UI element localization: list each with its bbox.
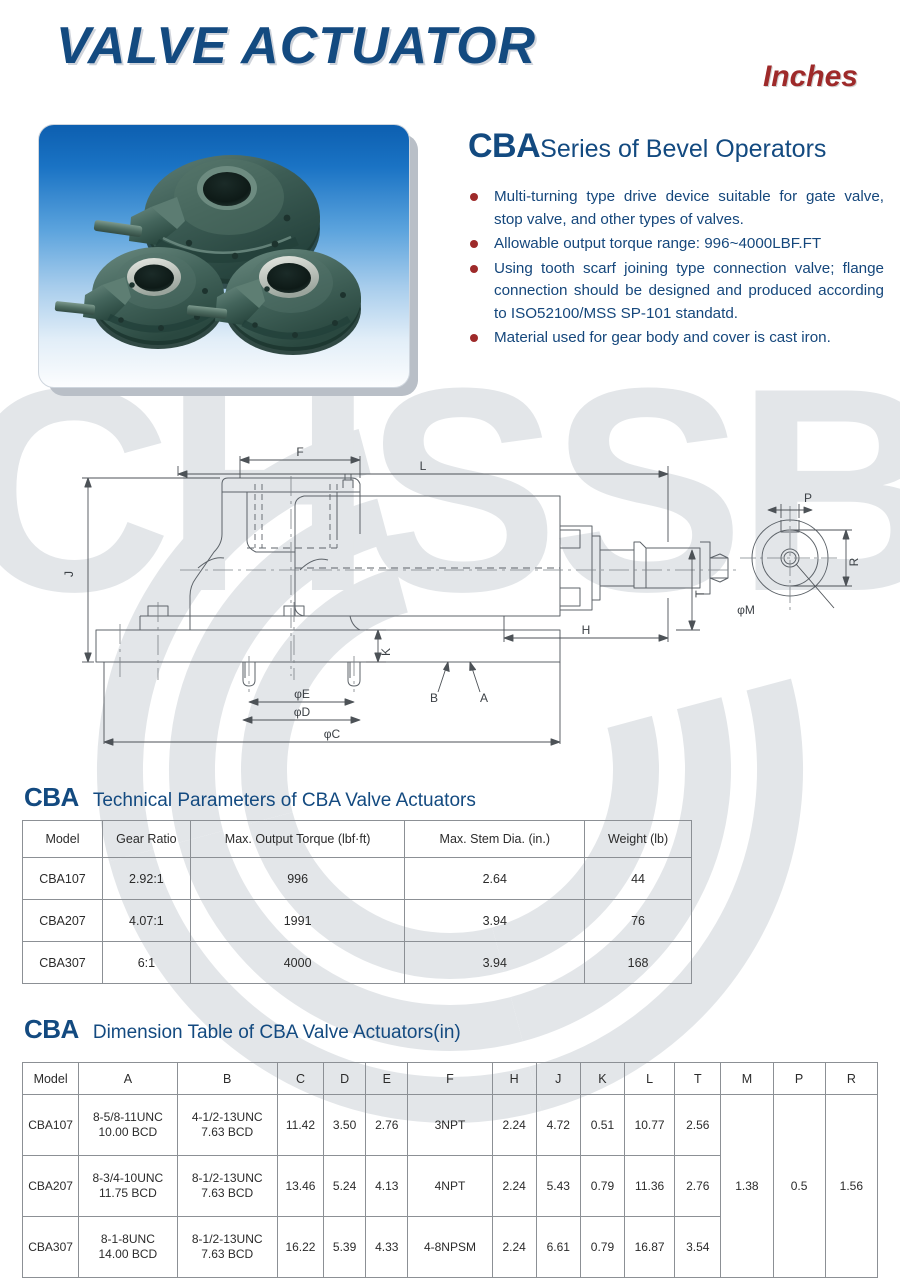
cell-e: 4.13 <box>366 1156 408 1217</box>
dim-label-k: K <box>379 648 393 656</box>
table-row: CBA107 2.92:1 996 2.64 44 <box>23 858 692 900</box>
cell-k: 0.51 <box>580 1095 624 1156</box>
col-header-p: P <box>773 1063 825 1095</box>
cell-k: 0.79 <box>580 1156 624 1217</box>
dim-label-j: J <box>62 571 76 577</box>
tech-parameters-table: Model Gear Ratio Max. Output Torque (lbf… <box>22 820 692 984</box>
col-header-a: A <box>79 1063 177 1095</box>
cell-a: 8-3/4-10UNC 11.75 BCD <box>79 1156 177 1217</box>
dim-label-r: R <box>847 557 861 566</box>
cell-c: 16.22 <box>277 1217 323 1278</box>
col-header-k: K <box>580 1063 624 1095</box>
dim-label-phi-m: φM <box>737 603 755 617</box>
cell-torque: 4000 <box>190 942 405 984</box>
actuator-photo-illustration <box>39 125 409 387</box>
cell-b-line2: 7.63 BCD <box>180 1247 275 1262</box>
dim-label-t: T <box>693 590 707 598</box>
cell-b-line1: 4-1/2-13UNC <box>180 1110 275 1125</box>
cell-model: CBA107 <box>23 858 103 900</box>
series-tag: CBA <box>468 127 540 165</box>
cell-f: 4-8NPSM <box>408 1217 492 1278</box>
table-row: CBA307 6:1 4000 3.94 168 <box>23 942 692 984</box>
cell-weight: 168 <box>585 942 692 984</box>
cell-torque: 1991 <box>190 900 405 942</box>
col-header-model: Model <box>23 1063 79 1095</box>
bullet-dot-icon <box>470 334 478 342</box>
col-header-m: M <box>721 1063 773 1095</box>
series-heading: CBASeries of Bevel Operators <box>468 127 826 166</box>
col-header-stem-dia: Max. Stem Dia. (in.) <box>405 821 585 858</box>
table-row: CBA207 4.07:1 1991 3.94 76 <box>23 900 692 942</box>
col-header-model: Model <box>23 821 103 858</box>
list-item: Multi-turning type drive device suitable… <box>468 186 884 231</box>
table-header-row: Model A B C D E F H J K L T M P R <box>23 1063 878 1095</box>
table-row: CBA107 8-5/8-11UNC 10.00 BCD 4-1/2-13UNC… <box>23 1095 878 1156</box>
feature-list: Multi-turning type drive device suitable… <box>468 186 884 352</box>
series-description: Series of Bevel Operators <box>540 135 826 163</box>
cell-b-line2: 7.63 BCD <box>180 1125 275 1140</box>
cell-k: 0.79 <box>580 1217 624 1278</box>
cell-j: 5.43 <box>536 1156 580 1217</box>
col-header-c: C <box>277 1063 323 1095</box>
col-header-e: E <box>366 1063 408 1095</box>
cell-a-line2: 14.00 BCD <box>81 1247 174 1262</box>
cell-d: 5.39 <box>324 1217 366 1278</box>
cell-l: 16.87 <box>625 1217 675 1278</box>
cell-stem-dia: 3.94 <box>405 900 585 942</box>
cell-d: 5.24 <box>324 1156 366 1217</box>
dim-heading-title: Dimension Table of CBA Valve Actuators(i… <box>93 1022 461 1043</box>
list-item: Allowable output torque range: 996~4000L… <box>468 233 884 256</box>
cell-a-line1: 8-5/8-11UNC <box>81 1110 174 1125</box>
cell-l: 11.36 <box>625 1156 675 1217</box>
tech-heading-tag: CBA <box>24 782 79 812</box>
cell-b: 8-1/2-13UNC 7.63 BCD <box>177 1156 277 1217</box>
cell-t: 2.76 <box>675 1156 721 1217</box>
cell-weight: 44 <box>585 858 692 900</box>
engineering-drawing: F L J K H T A B φE φD φC P R φM <box>0 430 900 760</box>
col-header-weight: Weight (lb) <box>585 821 692 858</box>
cell-a: 8-1-8UNC 14.00 BCD <box>79 1217 177 1278</box>
col-header-t: T <box>675 1063 721 1095</box>
cell-b: 8-1/2-13UNC 7.63 BCD <box>177 1217 277 1278</box>
cell-a-line2: 11.75 BCD <box>81 1186 174 1201</box>
cell-torque: 996 <box>190 858 405 900</box>
dim-label-phi-d: φD <box>294 705 311 719</box>
cell-b-line1: 8-1/2-13UNC <box>180 1232 275 1247</box>
product-photo <box>38 124 408 386</box>
cell-l: 10.77 <box>625 1095 675 1156</box>
cell-c: 13.46 <box>277 1156 323 1217</box>
table-header-row: Model Gear Ratio Max. Output Torque (lbf… <box>23 821 692 858</box>
col-header-d: D <box>324 1063 366 1095</box>
dim-label-b: B <box>430 691 438 705</box>
units-label: Inches <box>763 60 858 94</box>
cell-f: 3NPT <box>408 1095 492 1156</box>
feature-text: Multi-turning type drive device suitable… <box>494 188 884 228</box>
col-header-r: R <box>825 1063 877 1095</box>
cell-model: CBA107 <box>23 1095 79 1156</box>
cell-gear-ratio: 2.92:1 <box>102 858 190 900</box>
feature-text: Material used for gear body and cover is… <box>494 329 831 346</box>
cell-d: 3.50 <box>324 1095 366 1156</box>
cell-a-line1: 8-3/4-10UNC <box>81 1171 174 1186</box>
cell-m-merged: 1.38 <box>721 1095 773 1278</box>
col-header-b: B <box>177 1063 277 1095</box>
cell-h: 2.24 <box>492 1217 536 1278</box>
cell-c: 11.42 <box>277 1095 323 1156</box>
cell-stem-dia: 2.64 <box>405 858 585 900</box>
cell-p-merged: 0.5 <box>773 1095 825 1278</box>
cell-f: 4NPT <box>408 1156 492 1217</box>
list-item: Material used for gear body and cover is… <box>468 327 884 350</box>
photo-frame <box>38 124 410 388</box>
dim-label-phi-c: φC <box>324 727 341 741</box>
dim-label-h: H <box>582 623 591 637</box>
col-header-j: J <box>536 1063 580 1095</box>
col-header-h: H <box>492 1063 536 1095</box>
cell-a-line1: 8-1-8UNC <box>81 1232 174 1247</box>
cell-h: 2.24 <box>492 1095 536 1156</box>
cell-h: 2.24 <box>492 1156 536 1217</box>
cell-model: CBA207 <box>23 1156 79 1217</box>
dimension-table-heading: CBADimension Table of CBA Valve Actuator… <box>24 1014 461 1045</box>
col-header-torque: Max. Output Torque (lbf·ft) <box>190 821 405 858</box>
cell-weight: 76 <box>585 900 692 942</box>
cell-b: 4-1/2-13UNC 7.63 BCD <box>177 1095 277 1156</box>
cell-t: 2.56 <box>675 1095 721 1156</box>
dim-label-l: L <box>420 459 427 473</box>
col-header-f: F <box>408 1063 492 1095</box>
cell-model: CBA207 <box>23 900 103 942</box>
cell-e: 2.76 <box>366 1095 408 1156</box>
cell-j: 6.61 <box>536 1217 580 1278</box>
dim-label-a: A <box>480 691 488 705</box>
feature-text: Allowable output torque range: 996~4000L… <box>494 235 821 252</box>
page-title: VALVE ACTUATOR <box>56 16 536 76</box>
cell-r-merged: 1.56 <box>825 1095 877 1278</box>
dim-label-f: F <box>296 445 303 459</box>
dim-heading-tag: CBA <box>24 1014 79 1044</box>
cell-a: 8-5/8-11UNC 10.00 BCD <box>79 1095 177 1156</box>
cell-gear-ratio: 6:1 <box>102 942 190 984</box>
tech-heading-title: Technical Parameters of CBA Valve Actuat… <box>93 790 476 811</box>
cell-j: 4.72 <box>536 1095 580 1156</box>
cell-model: CBA307 <box>23 1217 79 1278</box>
bullet-dot-icon <box>470 240 478 248</box>
tech-parameters-heading: CBATechnical Parameters of CBA Valve Act… <box>24 782 476 813</box>
bullet-dot-icon <box>470 193 478 201</box>
cell-stem-dia: 3.94 <box>405 942 585 984</box>
col-header-l: L <box>625 1063 675 1095</box>
cell-b-line2: 7.63 BCD <box>180 1186 275 1201</box>
dim-label-p: P <box>804 491 812 505</box>
dimension-table: Model A B C D E F H J K L T M P R CBA107… <box>22 1062 878 1278</box>
cell-a-line2: 10.00 BCD <box>81 1125 174 1140</box>
cell-b-line1: 8-1/2-13UNC <box>180 1171 275 1186</box>
cell-gear-ratio: 4.07:1 <box>102 900 190 942</box>
col-header-gear-ratio: Gear Ratio <box>102 821 190 858</box>
cell-model: CBA307 <box>23 942 103 984</box>
feature-text: Using tooth scarf joining type connectio… <box>494 260 884 322</box>
list-item: Using tooth scarf joining type connectio… <box>468 258 884 326</box>
cell-e: 4.33 <box>366 1217 408 1278</box>
cell-t: 3.54 <box>675 1217 721 1278</box>
bullet-dot-icon <box>470 265 478 273</box>
dim-label-phi-e: φE <box>294 687 310 701</box>
